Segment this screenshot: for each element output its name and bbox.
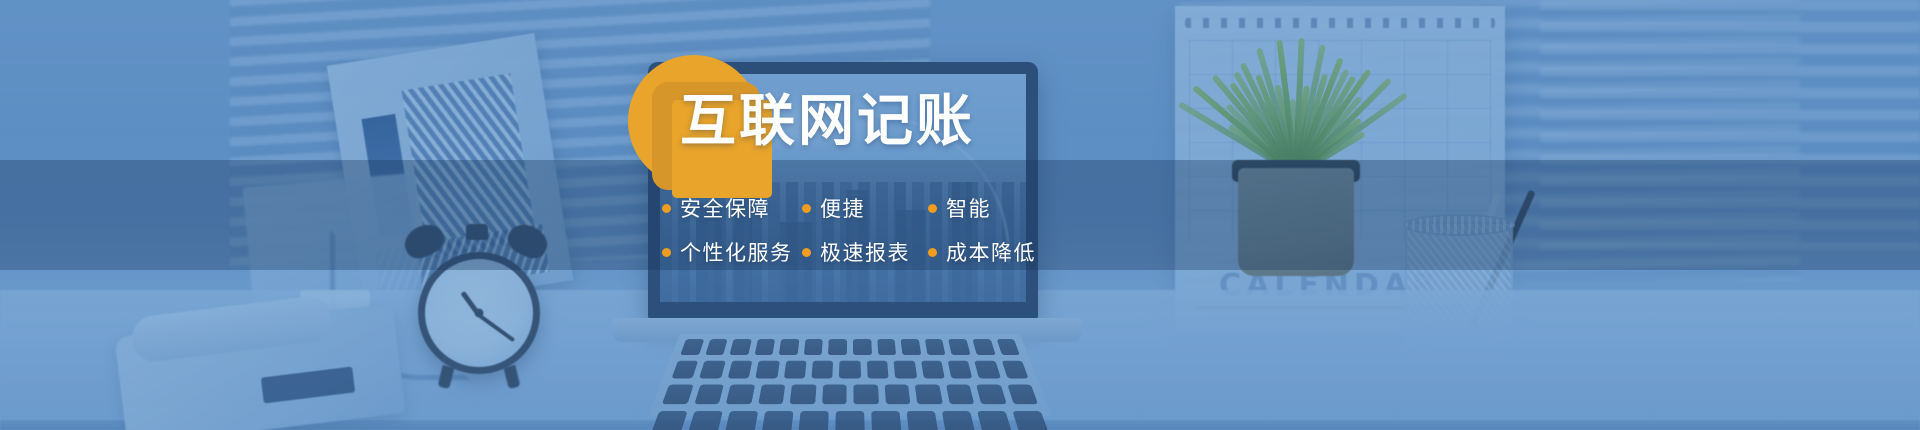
feature-item: 智能 [928,193,1048,223]
bullet-dot-icon [928,248,937,257]
feature-label: 极速报表 [820,237,910,267]
feature-label: 成本降低 [946,237,1036,267]
bullet-dot-icon [928,204,937,213]
bullet-dot-icon [802,204,811,213]
feature-item: 个性化服务 [662,237,802,267]
feature-label: 安全保障 [680,193,770,223]
feature-item: 成本降低 [928,237,1048,267]
feature-label: 智能 [946,193,991,223]
bullet-dot-icon [662,204,671,213]
bullet-dot-icon [802,248,811,257]
feature-item: 安全保障 [662,193,802,223]
feature-list: 安全保障 便捷 智能 个性化服务 极速报表 [662,186,1062,274]
feature-label: 个性化服务 [680,237,793,267]
promo-banner: CALENDAR [0,0,1920,430]
feature-row: 安全保障 便捷 智能 [662,186,1062,230]
feature-label: 便捷 [820,193,865,223]
bullet-dot-icon [662,248,671,257]
feature-item: 便捷 [802,193,928,223]
banner-content: 互联网记账 安全保障 便捷 智能 个性化服务 [0,0,1920,430]
banner-title: 互联网记账 [680,90,975,154]
feature-item: 极速报表 [802,237,928,267]
feature-row: 个性化服务 极速报表 成本降低 [662,230,1062,274]
